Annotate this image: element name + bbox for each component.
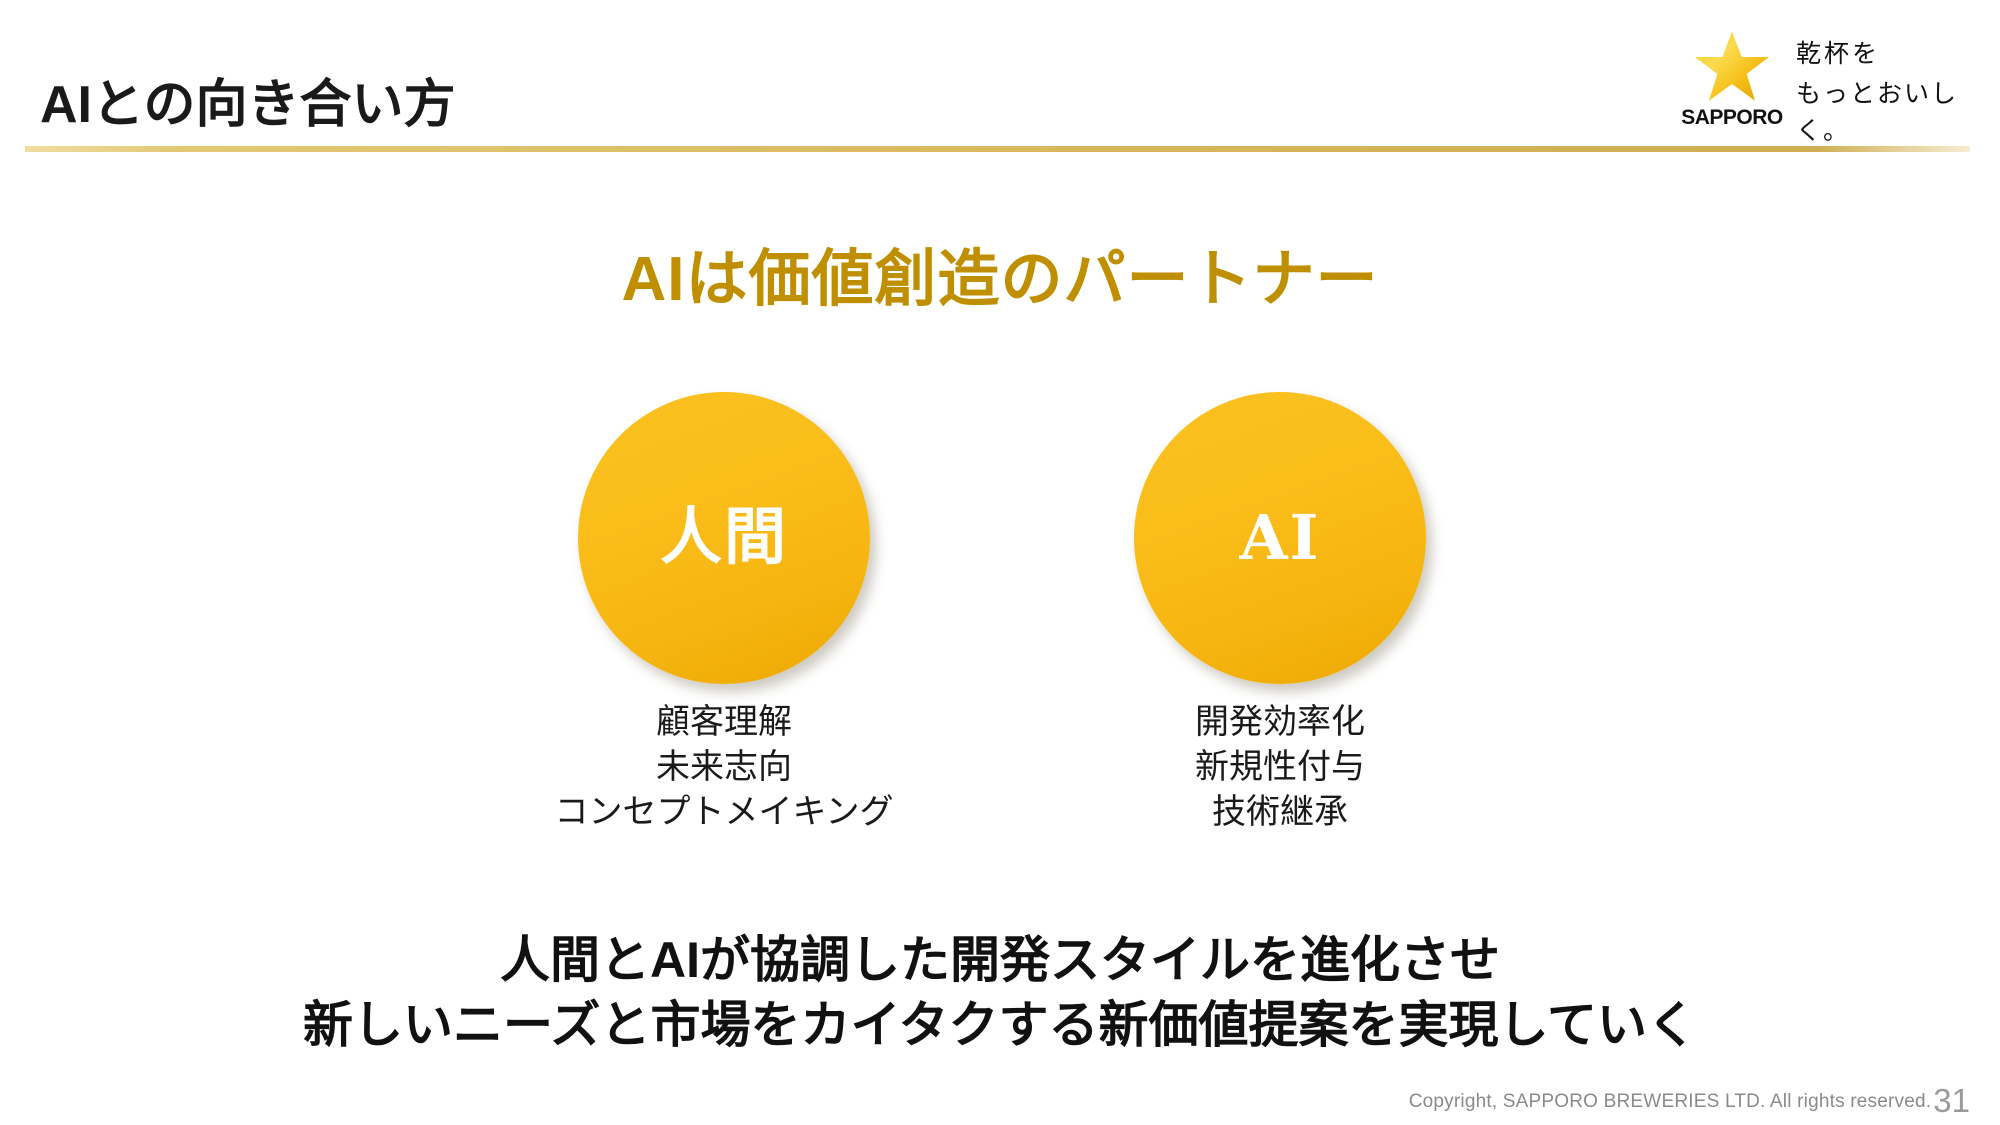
title-divider-rule [25,146,1970,152]
caption-ai-line2: 新規性付与 [1020,745,1540,790]
caption-human-line2: 未来志向 [464,745,984,790]
node-ai: AI [1134,392,1426,684]
node-ai-label: AI [1239,507,1320,569]
caption-ai-line1: 開発効率化 [1020,700,1540,745]
caption-human: 顧客理解 未来志向 コンセプトメイキング [464,700,984,835]
slide-footer: Copyright, SAPPORO BREWERIES LTD. All ri… [1409,1084,1970,1117]
caption-ai: 開発効率化 新規性付与 技術継承 [1020,700,1540,835]
conclusion-line2: 新しいニーズと市場をカイタクする新価値提案を実現していく [0,993,2000,1058]
logo-wordmark: SAPPORO [1678,106,1786,130]
main-headline: AIは価値創造のパートナー [0,228,2000,318]
caption-human-line3: コンセプトメイキング [464,790,984,835]
sapporo-star-icon [1684,30,1780,104]
logo-tagline-line1: 乾杯を [1796,36,1978,72]
node-human-label: 人間 [660,507,788,569]
conclusion-line1: 人間とAIが協調した開発スタイルを進化させ [0,928,2000,993]
page-number: 31 [1933,1084,1970,1117]
sapporo-logo: SAPPORO 乾杯を もっとおいしく。 [1678,28,1978,130]
logo-star-wrap: SAPPORO [1678,28,1786,128]
logo-tagline-line2: もっとおいしく。 [1796,76,1978,149]
logo-tagline: 乾杯を もっとおいしく。 [1796,36,1978,149]
slide-canvas: AIとの向き合い方 SAPPORO 乾杯を もっとおいしく。 [0,0,2000,1125]
node-human: 人間 [578,392,870,684]
caption-human-line1: 顧客理解 [464,700,984,745]
copyright-notice: Copyright, SAPPORO BREWERIES LTD. All ri… [1409,1091,1932,1117]
page-title: AIとの向き合い方 [40,62,455,137]
caption-ai-line3: 技術継承 [1020,790,1540,835]
conclusion-text: 人間とAIが協調した開発スタイルを進化させ 新しいニーズと市場をカイタクする新価… [0,928,2000,1058]
